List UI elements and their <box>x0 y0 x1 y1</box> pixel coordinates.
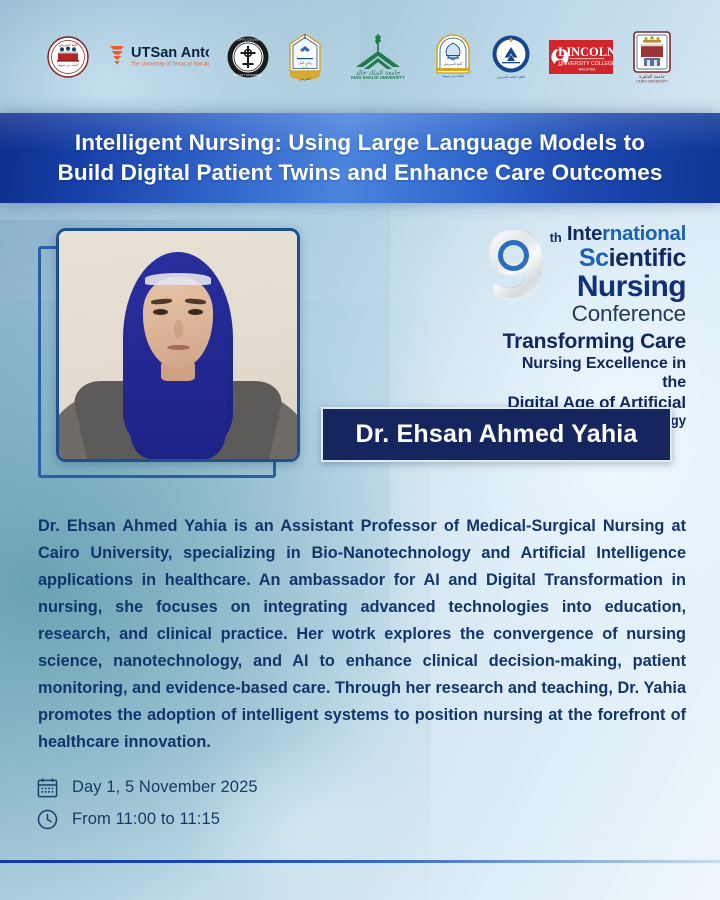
event-time: From 11:00 to 11:15 <box>72 810 220 829</box>
tagline-line-1: Transforming Care <box>494 330 686 354</box>
svg-text:النقابة العامة للتمريض: النقابة العامة للتمريض <box>497 75 525 79</box>
svg-text:FACULTY OF NURSING: FACULTY OF NURSING <box>234 73 262 77</box>
conference-wordmark: International Scientific Nursing Confere… <box>567 224 686 325</box>
conference-edition-numeral: 9 <box>485 226 549 312</box>
international-part-1: Inte <box>567 222 602 245</box>
conference-word-scientific: Scientific <box>567 246 686 271</box>
event-date: Day 1, 5 November 2025 <box>72 778 258 797</box>
svg-text:KING KHALID UNIVERSITY: KING KHALID UNIVERSITY <box>351 75 405 80</box>
speaker-bio: Dr. Ehsan Ahmed Yahia is an Assistant Pr… <box>38 513 686 756</box>
speaker-photo-block <box>38 228 300 480</box>
speaker-name-banner: Dr. Ehsan Ahmed Yahia <box>321 407 672 462</box>
edition-numeral-ring <box>498 240 529 271</box>
edition-suffix: th <box>550 230 562 245</box>
svg-text:LINCOLN: LINCOLN <box>558 45 613 59</box>
session-title-line-1: Intelligent Nursing: Using Large Languag… <box>75 128 645 158</box>
speaker-name: Dr. Ehsan Ahmed Yahia <box>355 420 637 449</box>
cairo-university-logo: جامعة القاهرة CAIRO UNIVERSITY <box>630 30 674 84</box>
svg-text:كلية التمريض: كلية التمريض <box>59 43 78 47</box>
svg-text:التمريض: التمريض <box>300 77 311 81</box>
event-details: Day 1, 5 November 2025 From 11:00 to 11:… <box>36 776 258 831</box>
king-khalid-university-logo: جامعة الملك خالد KING KHALID UNIVERSITY <box>340 34 416 80</box>
international-part-2: rnational <box>602 222 686 245</box>
speaker-portrait-illustration <box>59 231 297 459</box>
svg-text:UNIVERSITY COLLEGE: UNIVERSITY COLLEGE <box>559 61 613 67</box>
egyptian-nursing-syndicate-logo: النقابة العامة للتمريض <box>490 34 532 80</box>
svg-text:جامعة: جامعة <box>301 65 309 69</box>
svg-text:جامعة بني سويف: جامعة بني سويف <box>57 63 79 67</box>
partner-logo-strip: كلية التمريض جامعة بني سويف UTSan Antoni… <box>0 0 720 113</box>
svg-text:COPTIC COLLEGE: COPTIC COLLEGE <box>236 37 260 41</box>
tagline-line-2: Nursing Excellence in the <box>494 354 686 393</box>
session-title-banner: Intelligent Nursing: Using Large Languag… <box>0 113 720 203</box>
conference-logo: 9 th International Scientific Nursing Co… <box>494 224 686 429</box>
wadi-el-nil-university-logo: وادي النيل جامعة التمريض <box>287 33 323 81</box>
conference-word-international: International <box>567 224 686 245</box>
scientific-part-1: Sc <box>579 244 609 272</box>
lincoln-university-college-logo: LINCOLN UNIVERSITY COLLEGE MALAYSIA <box>549 40 613 74</box>
bottom-divider <box>0 860 720 863</box>
scientific-part-2: ientific <box>609 244 686 272</box>
clock-icon <box>36 808 59 831</box>
beni-suef-university-logo: كلية التمريض جامعة بني سويف <box>433 34 473 80</box>
faculty-of-nursing-logo: كلية التمريض جامعة بني سويف <box>46 35 90 79</box>
conference-word-conference: Conference <box>567 303 686 326</box>
svg-text:UTSan Antonio: UTSan Antonio <box>131 45 209 61</box>
ut-san-antonio-logo: UTSan Antonio The University of Texas at… <box>107 40 209 74</box>
session-title-line-2: Build Digital Patient Twins and Enhance … <box>58 158 663 188</box>
calendar-icon <box>36 776 59 799</box>
event-time-row: From 11:00 to 11:15 <box>36 808 258 831</box>
speaker-announcement-poster: كلية التمريض جامعة بني سويف UTSan Antoni… <box>0 0 720 900</box>
speaker-photo <box>56 228 300 462</box>
svg-text:CAIRO UNIVERSITY: CAIRO UNIVERSITY <box>636 79 669 83</box>
svg-text:كلية التمريض: كلية التمريض <box>444 62 463 66</box>
svg-text:جامعة بني سويف: جامعة بني سويف <box>442 74 464 78</box>
conference-word-nursing: Nursing <box>567 272 686 302</box>
svg-text:MALAYSIA: MALAYSIA <box>579 67 596 71</box>
event-date-row: Day 1, 5 November 2025 <box>36 776 258 799</box>
svg-text:The University of Texas at San: The University of Texas at San Antonio <box>131 61 209 67</box>
coptic-college-logo: COPTIC COLLEGE FACULTY OF NURSING <box>226 35 270 79</box>
